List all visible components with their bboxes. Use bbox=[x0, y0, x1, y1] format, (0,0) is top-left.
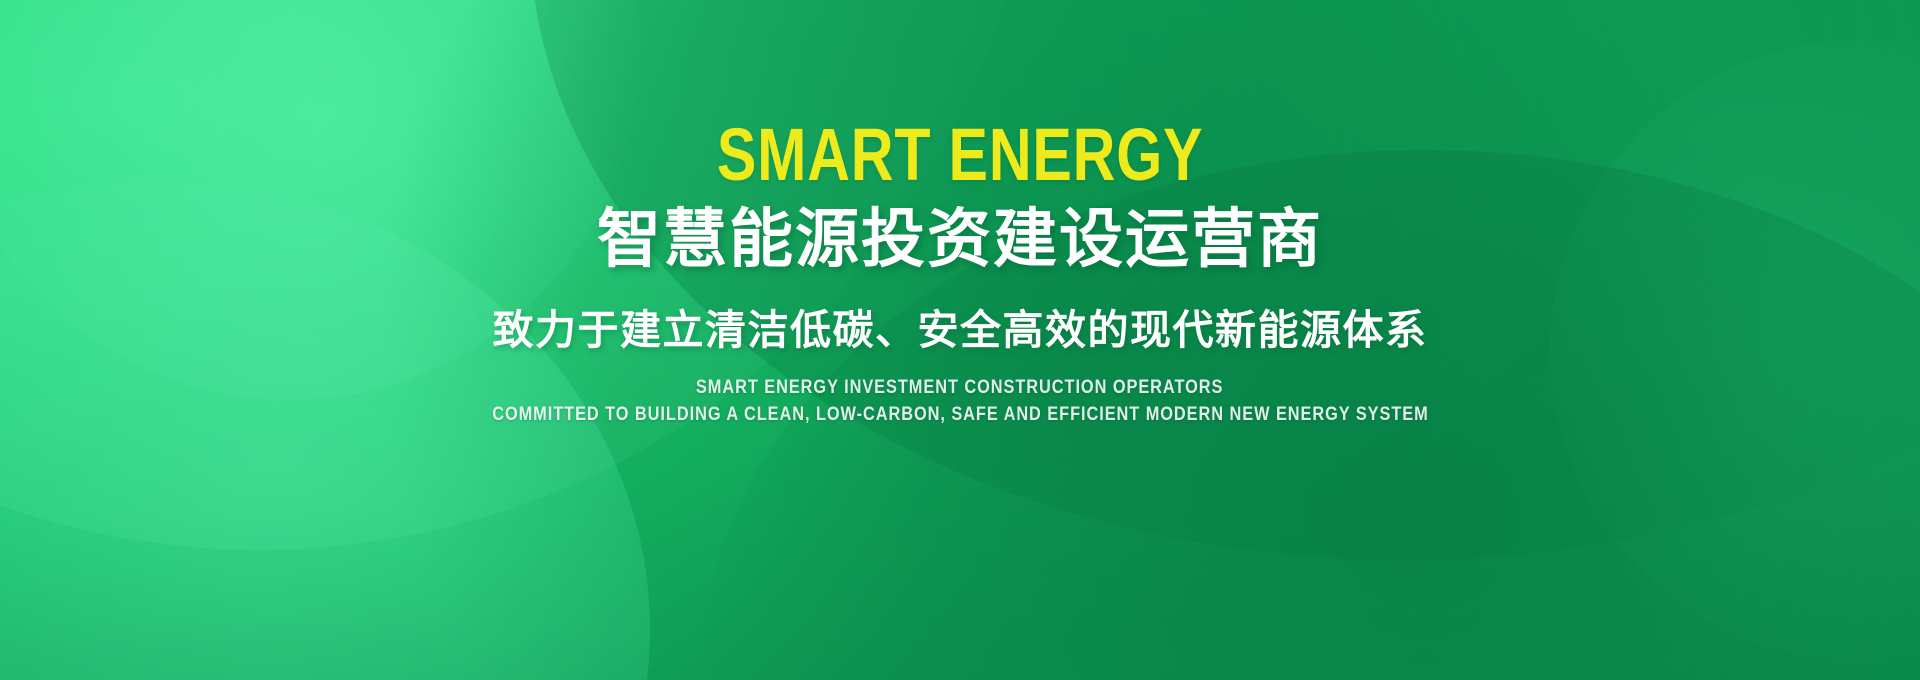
banner-caption-line-1: SMART ENERGY INVESTMENT CONSTRUCTION OPE… bbox=[696, 377, 1223, 399]
banner-caption-block: SMART ENERGY INVESTMENT CONSTRUCTION OPE… bbox=[416, 377, 1505, 427]
banner-title-chinese: 智慧能源投资建设运营商 bbox=[597, 204, 1323, 276]
banner-title-english: SMART ENERGY bbox=[717, 118, 1204, 192]
banner-subtitle-chinese: 致力于建立清洁低碳、安全高效的现代新能源体系 bbox=[493, 306, 1428, 355]
hero-banner: SMART ENERGY 智慧能源投资建设运营商 致力于建立清洁低碳、安全高效的… bbox=[0, 0, 1920, 680]
banner-content: SMART ENERGY 智慧能源投资建设运营商 致力于建立清洁低碳、安全高效的… bbox=[0, 0, 1920, 680]
banner-caption-line-2: COMMITTED TO BUILDING A CLEAN, LOW-CARBO… bbox=[492, 404, 1428, 426]
